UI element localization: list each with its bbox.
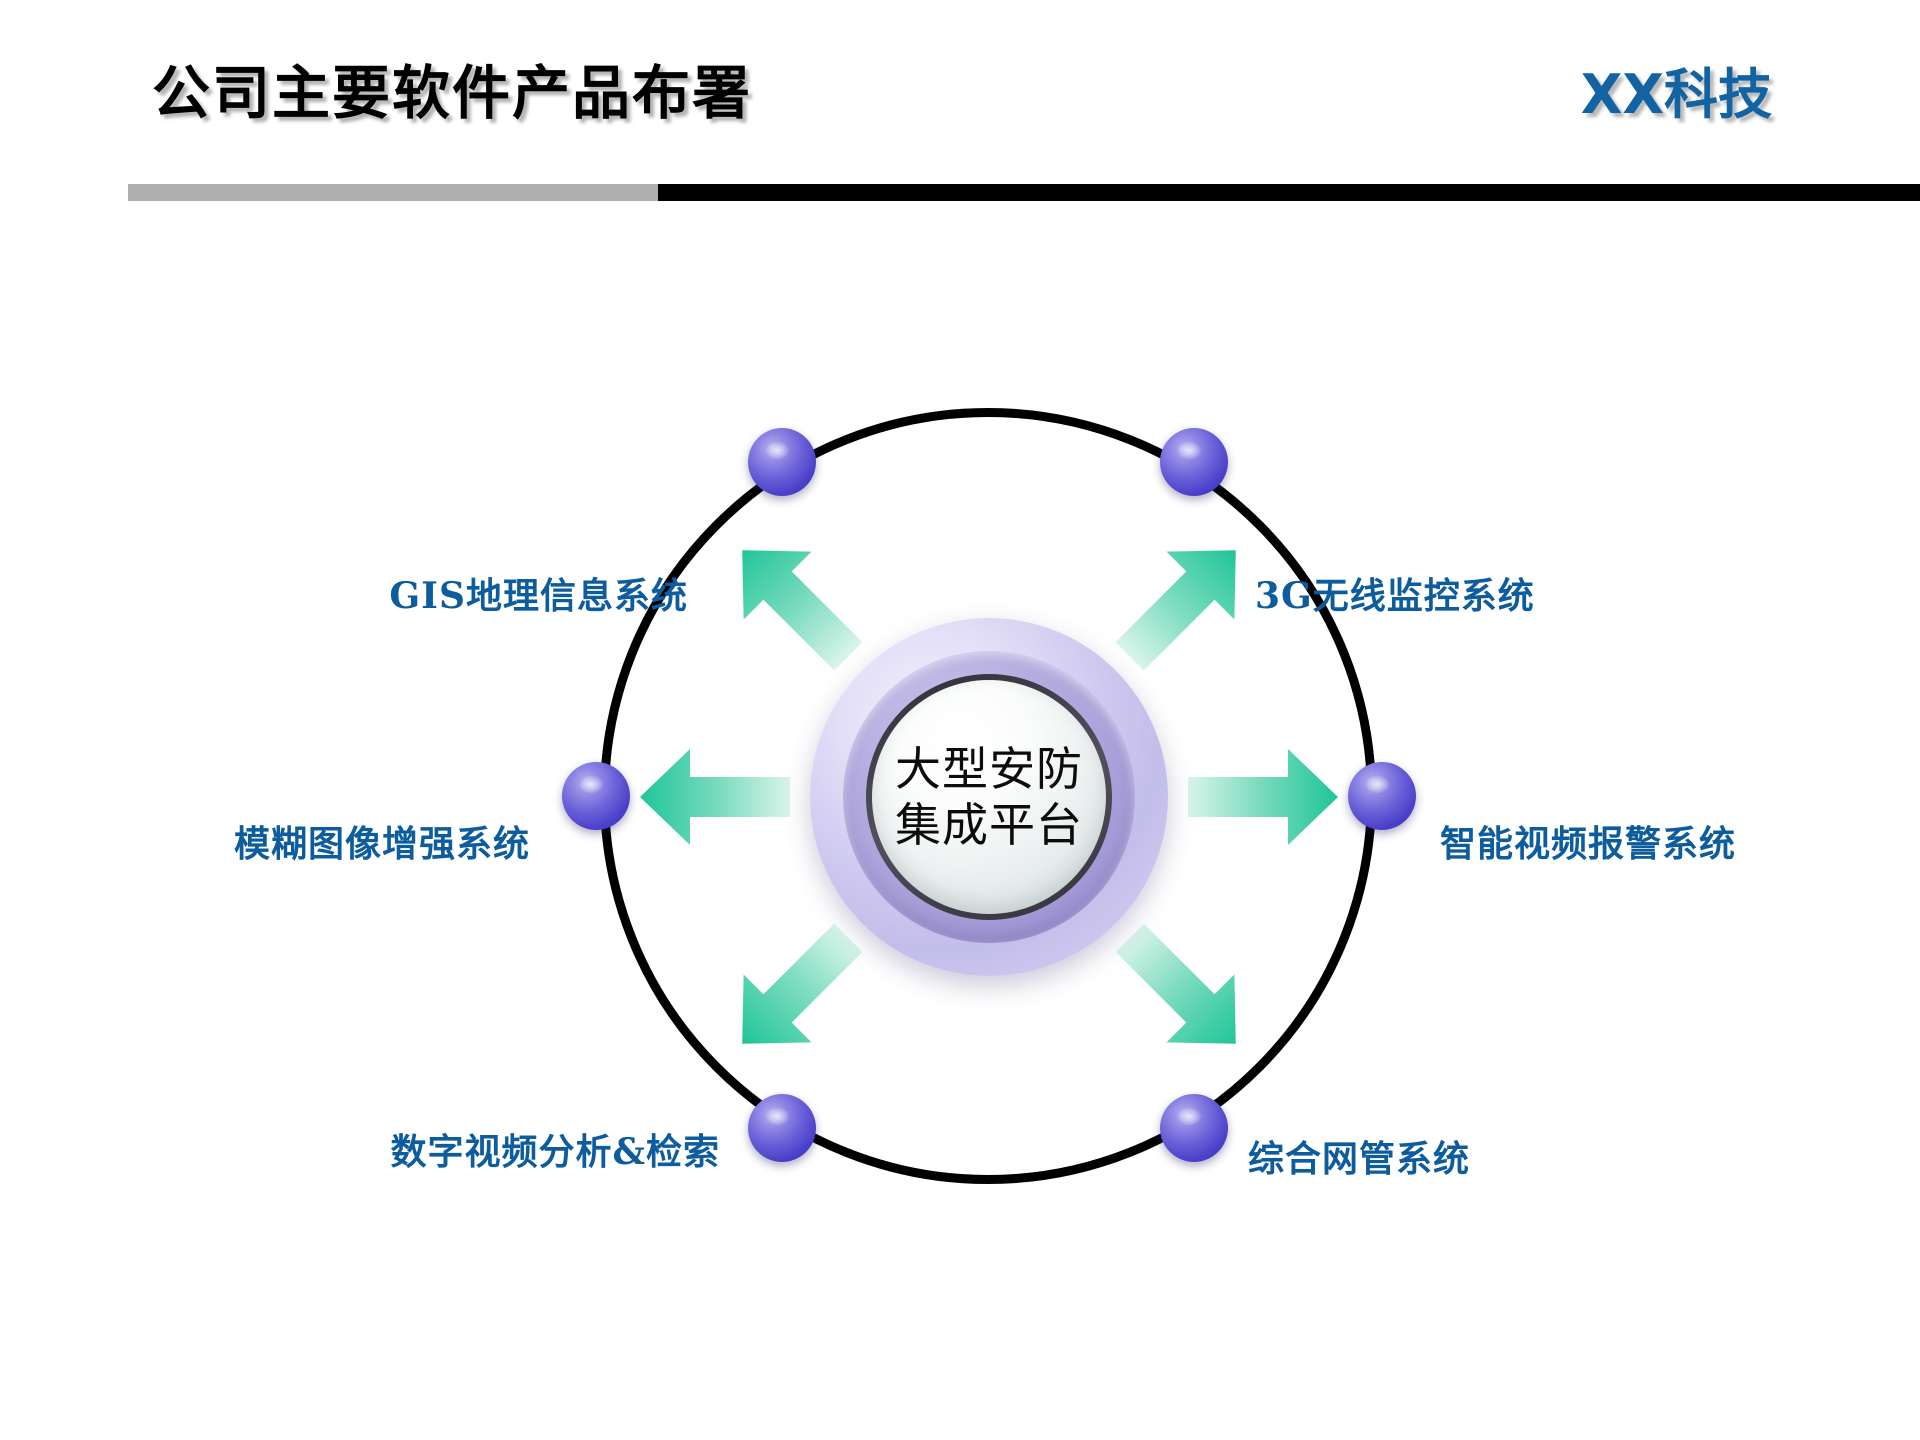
brand-logo: XX科技 [1581,50,1772,129]
node-sphere-alarm[interactable] [1348,762,1416,830]
core-platform-sphere[interactable]: 大型安防 集成平台 [810,618,1168,976]
arrow-core-to-3g [1096,904,1270,1078]
header-divider-gray-segment [128,184,658,201]
arrow-core-to-enhance [640,749,790,845]
core-sphere-face: 大型安防 集成平台 [872,680,1106,914]
page-title: 公司主要软件产品布署 [152,46,752,130]
node-label-netmgmt: 综合网管系统 [1248,1130,1470,1182]
node-sphere-video[interactable] [748,1094,816,1162]
node-sphere-gis[interactable] [748,428,816,496]
node-sphere-3g[interactable] [1160,428,1228,496]
arrow-core-to-video [708,516,882,690]
hub-and-spoke-diagram: 大型安防 集成平台 GIS地理信息系统 3G无线监控系统 智能视频报警系统 综合… [0,210,1920,1440]
arrow-core-to-gis [708,904,882,1078]
arrow-core-to-netmgmt [1096,516,1270,690]
node-label-video: 数字视频分析&检索 [390,1123,720,1175]
header-divider-black-segment [658,184,1920,201]
node-label-3g: 3G无线监控系统 [1255,567,1535,619]
node-label-alarm: 智能视频报警系统 [1440,815,1736,867]
node-sphere-netmgmt[interactable] [1160,1094,1228,1162]
arrow-core-to-alarm [1188,749,1338,845]
header-divider [128,184,1920,201]
node-sphere-enhance[interactable] [562,762,630,830]
node-label-gis: GIS地理信息系统 [389,567,688,619]
core-platform-label: 大型安防 集成平台 [895,741,1083,853]
node-label-enhance: 模糊图像增强系统 [234,815,530,867]
